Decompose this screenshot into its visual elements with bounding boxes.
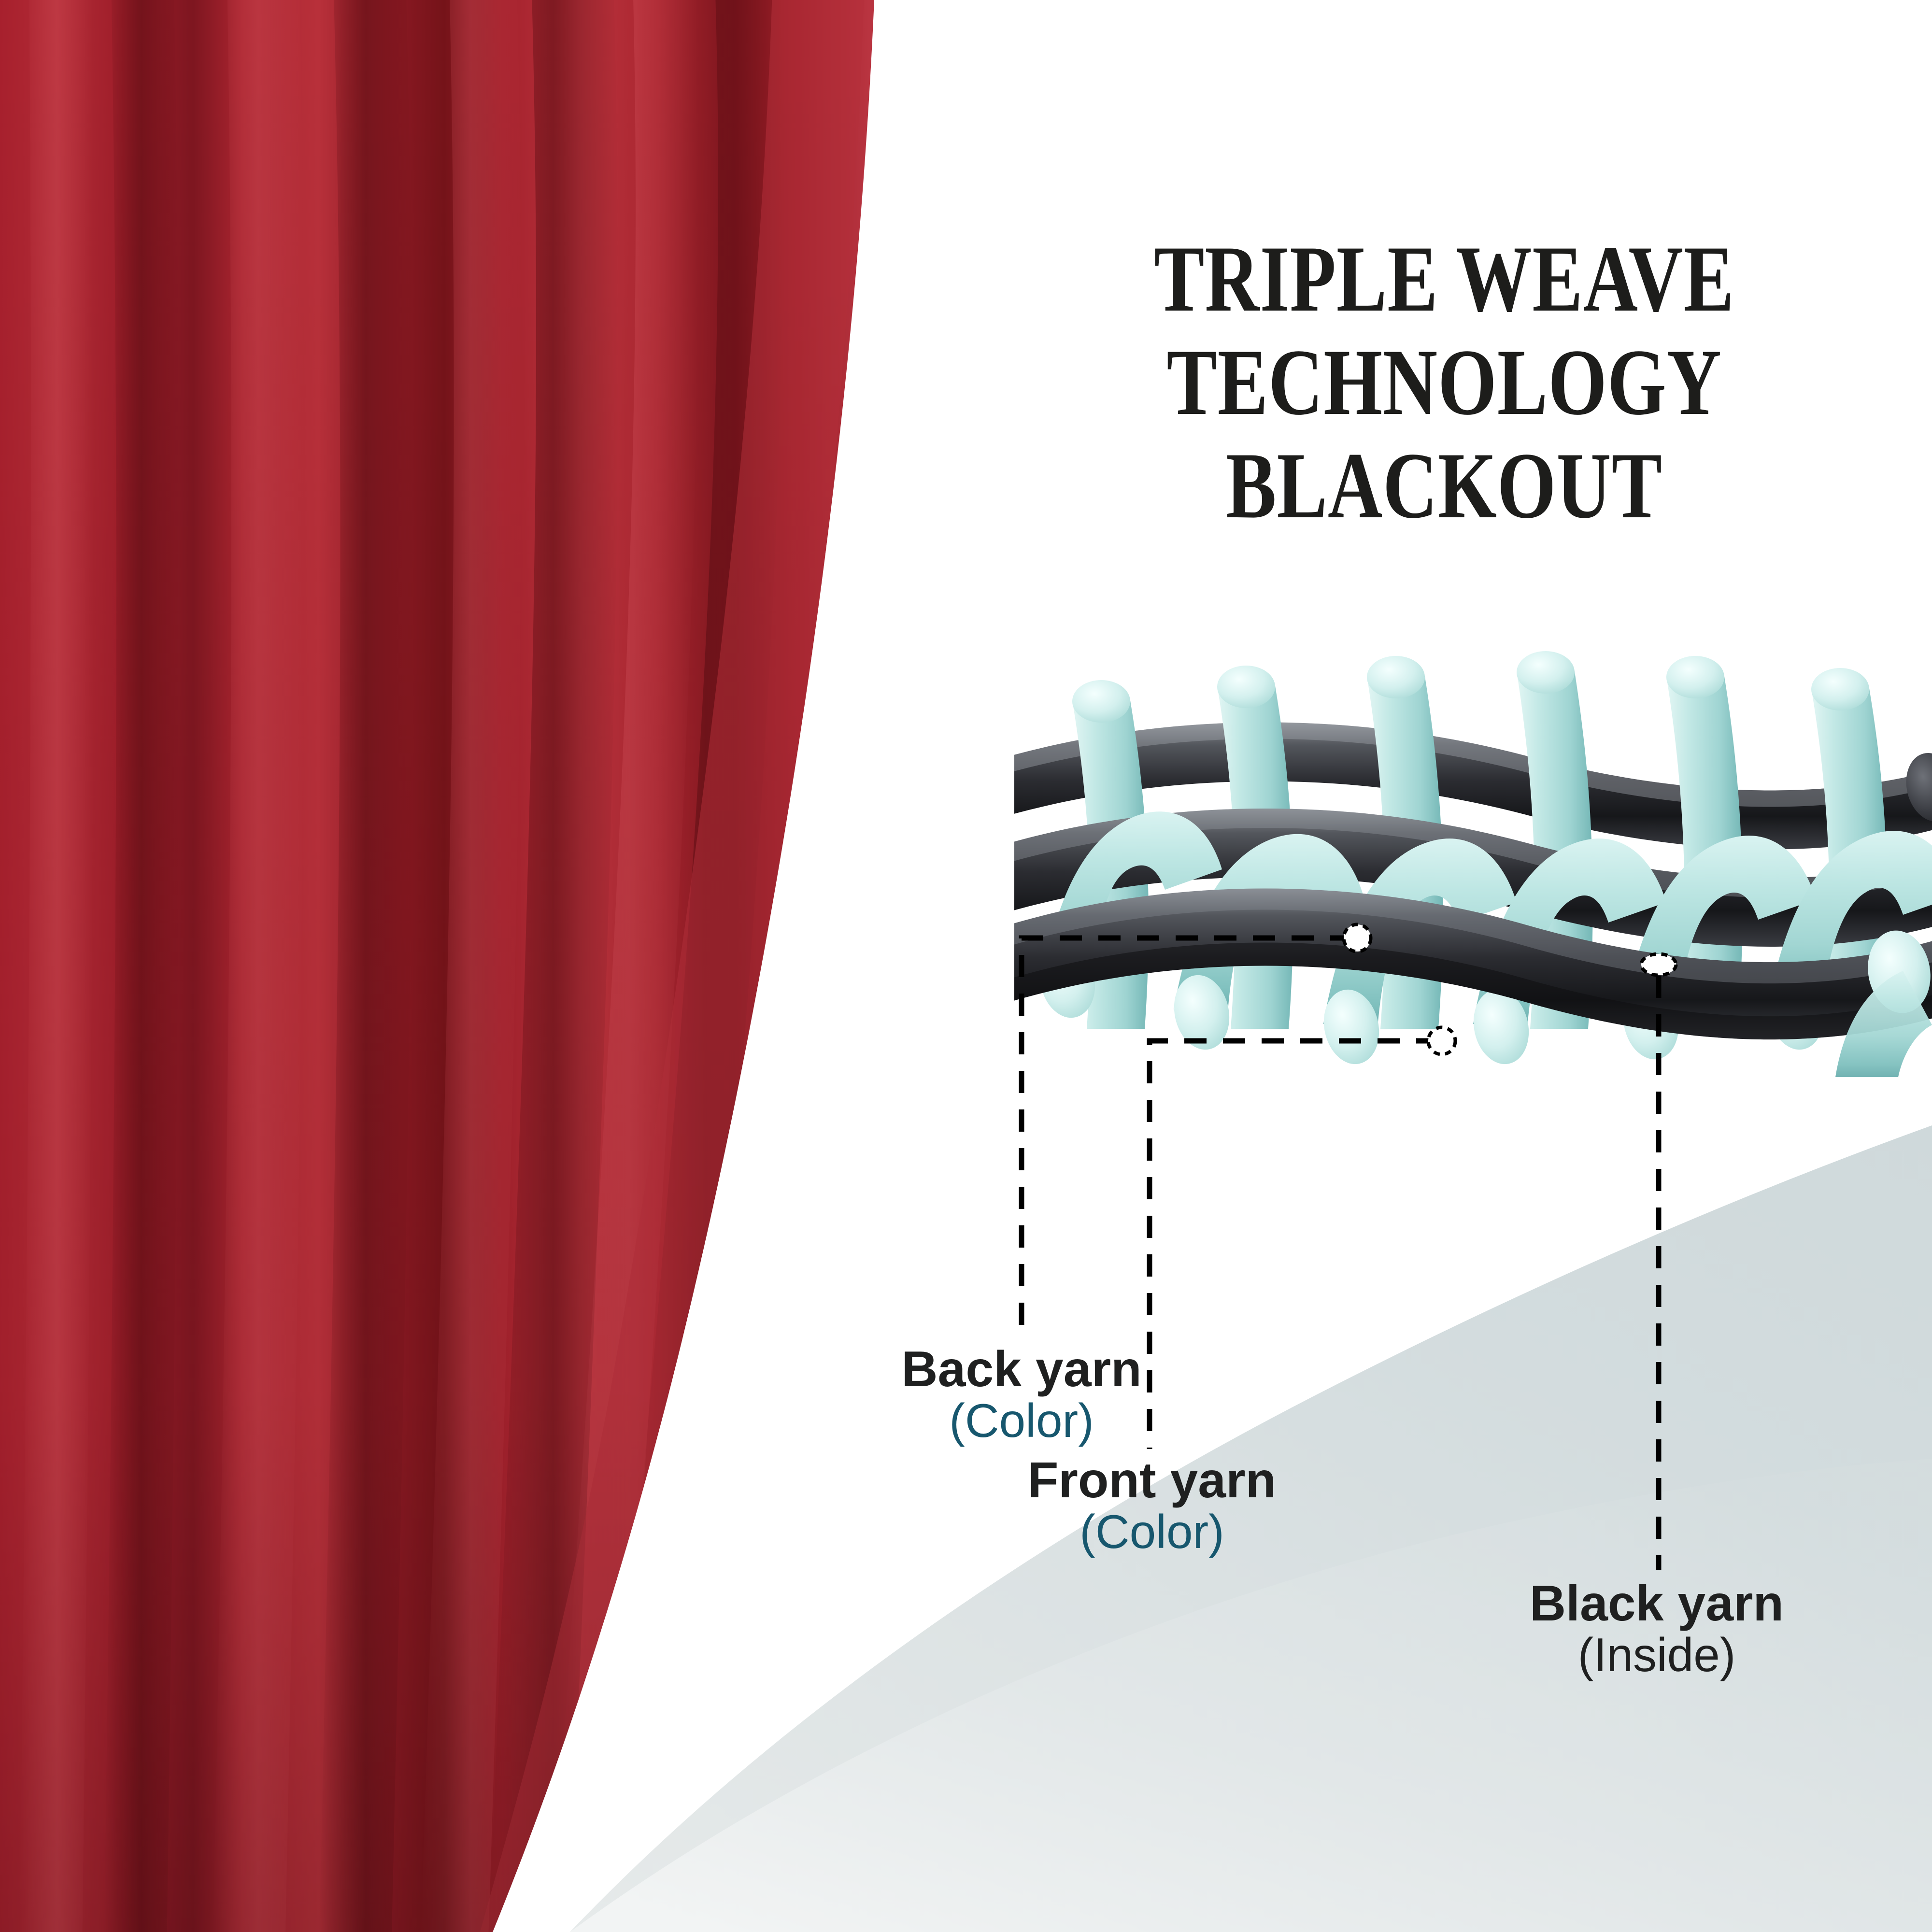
weave-illustration: [1014, 642, 1932, 1077]
title-line-3: BLACKOUT: [1131, 439, 1757, 533]
callout-label-back-yarn-line2: (Color): [691, 1396, 1352, 1446]
callout-label-black-yarn: Black yarn (Inside): [1326, 1577, 1932, 1680]
callout-label-front-yarn-line2: (Color): [821, 1507, 1483, 1557]
product-title: TRIPLE WEAVE TECHNOLOGY BLACKOUT: [1053, 232, 1835, 542]
callout-label-black-yarn-line2: (Inside): [1326, 1630, 1932, 1680]
product-infographic: TRIPLE WEAVE TECHNOLOGY BLACKOUT Back ya…: [0, 0, 1932, 1932]
callout-label-front-yarn: Front yarn (Color): [821, 1454, 1483, 1557]
title-line-2: TECHNOLOGY: [1131, 335, 1757, 430]
callout-label-black-yarn-line1: Black yarn: [1326, 1577, 1932, 1630]
back-yarn-tips: [1072, 651, 1869, 723]
callout-label-back-yarn-line1: Back yarn: [691, 1343, 1352, 1396]
curtain-body: [0, 0, 966, 1932]
callout-label-front-yarn-line1: Front yarn: [821, 1454, 1483, 1507]
curtain-image: [0, 0, 966, 1932]
title-line-1: TRIPLE WEAVE: [1131, 232, 1757, 327]
callout-label-back-yarn: Back yarn (Color): [691, 1343, 1352, 1446]
